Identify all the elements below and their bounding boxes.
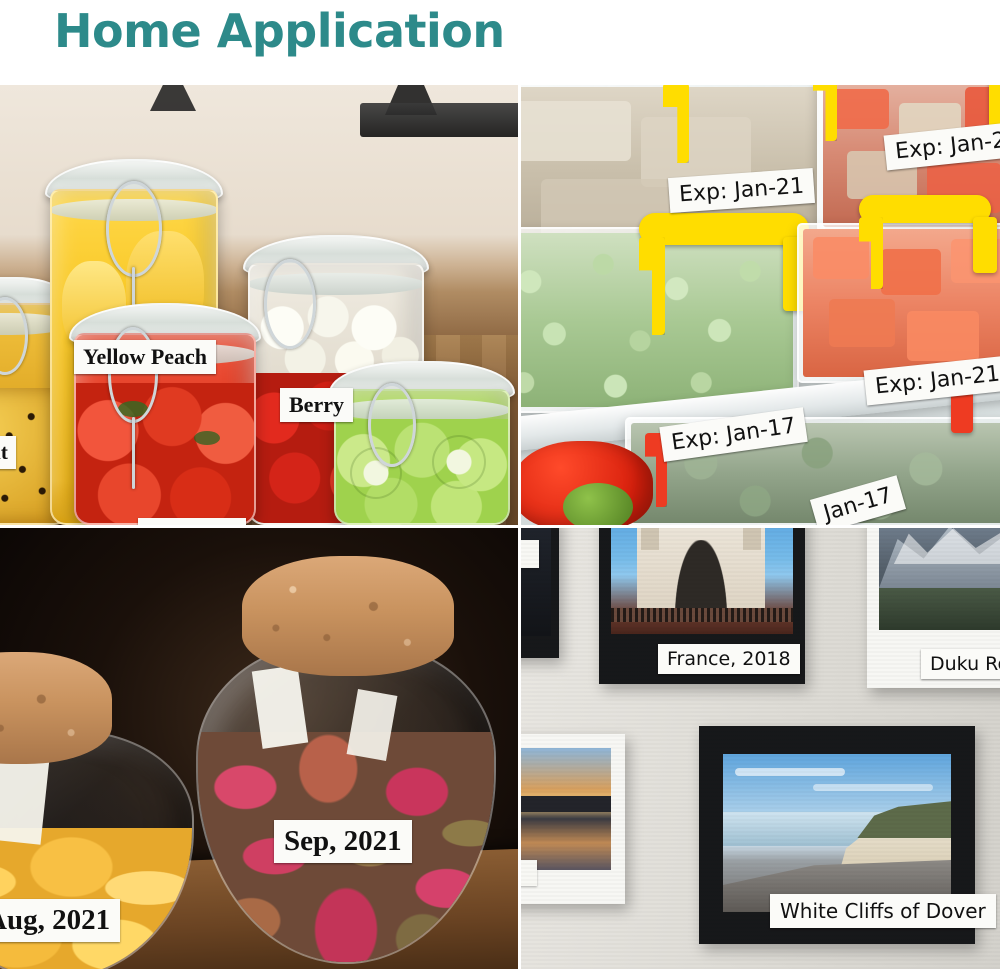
container-contents [803, 229, 1000, 377]
green-vegetable [563, 483, 633, 525]
jar-ring [334, 399, 510, 421]
panel-photo-wall: France, 2018 Duku Road [521, 528, 1000, 969]
jar-kiwi-fruit [334, 389, 510, 525]
jar-label-berry: Berry [280, 388, 353, 422]
jar-wire-bail [368, 383, 416, 467]
container-clip-yellow [989, 85, 1000, 129]
stove-top [360, 103, 518, 137]
label-fragment-sunset [521, 860, 537, 886]
photo-image-arc-de-triomphe [611, 528, 793, 634]
panel-cork-canisters: Aug, 2021 Sep, 2021 [0, 528, 518, 969]
jar-label-fruit: ruit [0, 436, 16, 469]
photo-image-mountains [879, 528, 1000, 630]
background-shape [150, 85, 196, 111]
application-photo-grid: ruit Yellow Peach Berry Tomatoes Kiwi Fr… [0, 85, 1000, 969]
photo-image-white-cliffs [723, 754, 951, 912]
panel-preserve-jars: ruit Yellow Peach Berry Tomatoes Kiwi Fr… [0, 85, 518, 525]
jar-label-tomatoes: Tomatoes [138, 518, 246, 525]
photo-image-sunset [521, 748, 611, 870]
cork-stopper [242, 556, 454, 676]
picture-frame-sunset [521, 734, 625, 904]
photo-label-dover: White Cliffs of Dover [770, 894, 996, 928]
canister-label-aug: Aug, 2021 [0, 899, 120, 942]
jar-wire-bail [106, 181, 162, 277]
page-title: Home Application [54, 4, 505, 58]
jar-wire-bail [264, 259, 316, 349]
jar-wire-bail-arm [132, 417, 135, 489]
glass-jar-body [196, 642, 496, 964]
canister-right [196, 546, 496, 966]
cork-stopper [0, 652, 112, 764]
canister-label-sep: Sep, 2021 [274, 820, 412, 863]
container-clip-yellow [973, 217, 997, 273]
jar-label-yellow-peach: Yellow Peach [74, 340, 216, 374]
picture-frame-cropped-left [521, 528, 559, 658]
panel-freezer-containers: Exp: Jan-21 Exp: Jan-21 Exp: Jan-21 Exp:… [521, 85, 1000, 525]
jar-body [334, 389, 510, 525]
title-bar: Home Application [0, 0, 1000, 85]
label-fragment-left [521, 540, 539, 568]
photo-label-france: France, 2018 [658, 644, 800, 674]
photo-image [521, 528, 551, 636]
photo-label-duku-road: Duku Road [921, 649, 1000, 679]
product-infographic: Home Application [0, 0, 1000, 969]
